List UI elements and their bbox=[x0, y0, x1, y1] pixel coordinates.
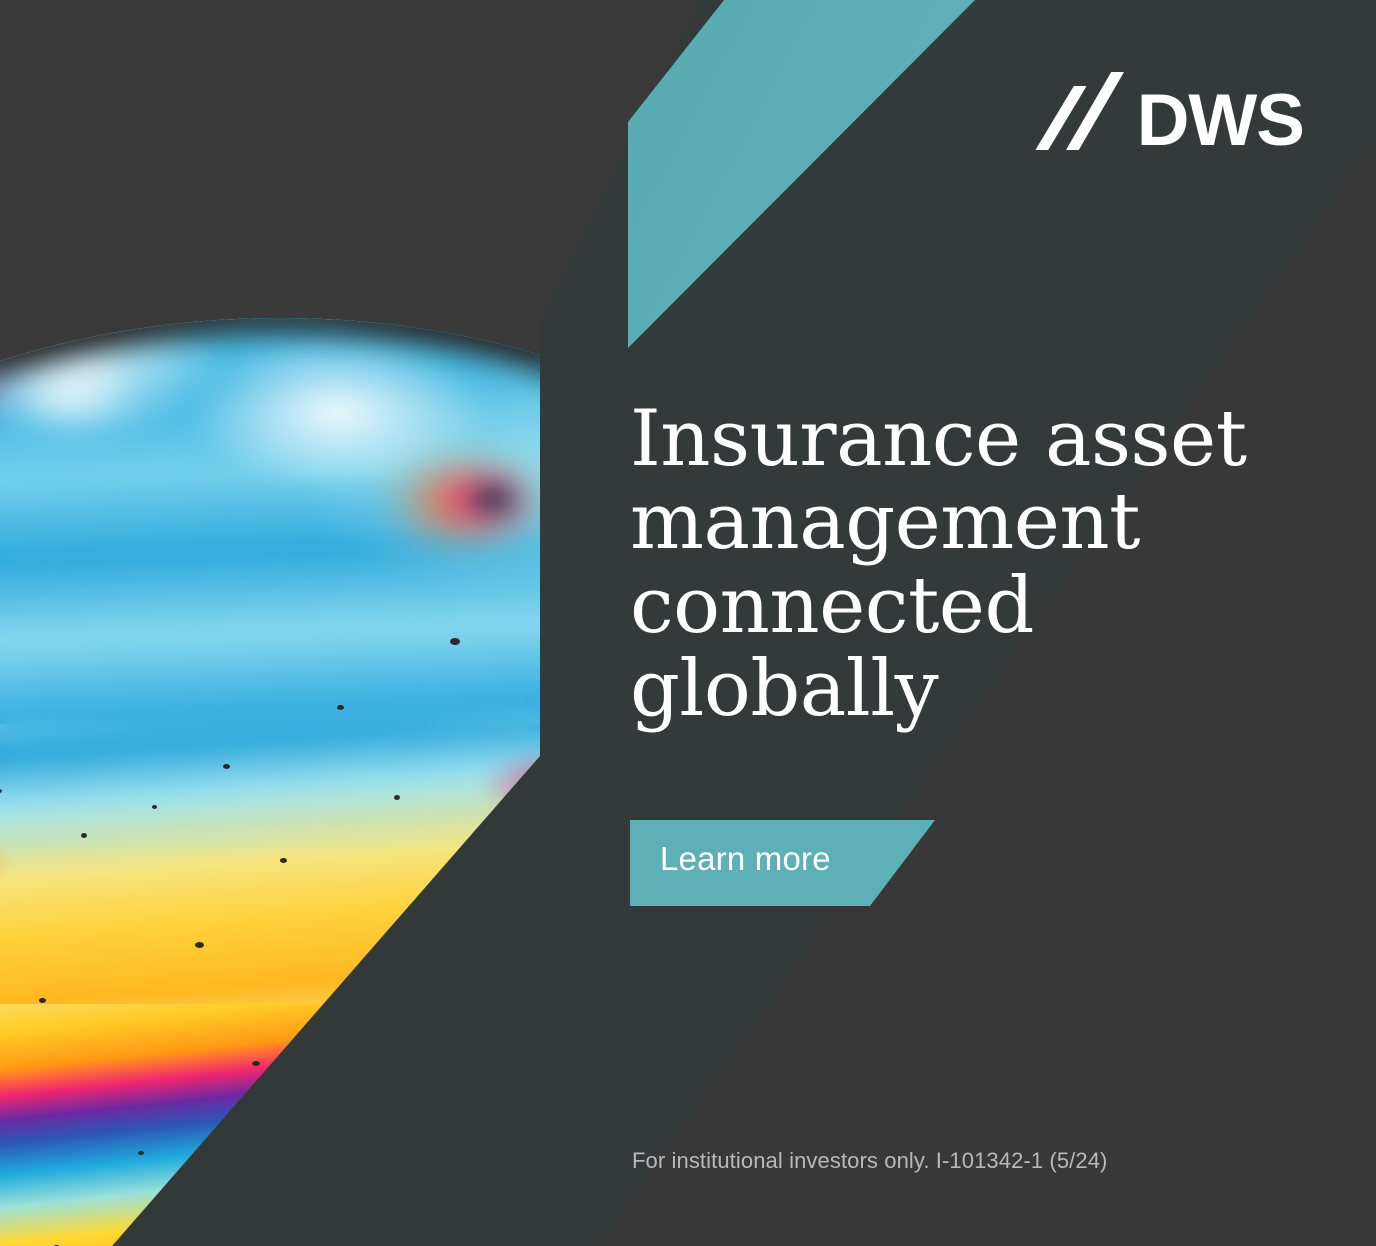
headline-line-2: management bbox=[630, 481, 1330, 564]
headline: Insurance asset management connected glo… bbox=[630, 398, 1330, 732]
bubble-rim-shadow bbox=[0, 318, 540, 1246]
learn-more-label: Learn more bbox=[660, 840, 831, 878]
headline-line-3: connected bbox=[630, 565, 1330, 648]
learn-more-button[interactable]: Learn more bbox=[630, 820, 935, 906]
logo-wordmark: DWS bbox=[1137, 93, 1304, 150]
double-slash-logo-icon bbox=[1049, 72, 1127, 150]
advertisement-banner: DWS Insurance asset management connected… bbox=[0, 0, 1376, 1246]
headline-line-1: Insurance asset bbox=[630, 398, 1330, 481]
dws-logo[interactable]: DWS bbox=[1049, 72, 1304, 150]
hero-image bbox=[0, 0, 540, 1246]
soap-bubble-surface bbox=[0, 318, 540, 1246]
headline-line-4: globally bbox=[630, 648, 1330, 731]
disclaimer-text: For institutional investors only. I-1013… bbox=[632, 1148, 1107, 1174]
